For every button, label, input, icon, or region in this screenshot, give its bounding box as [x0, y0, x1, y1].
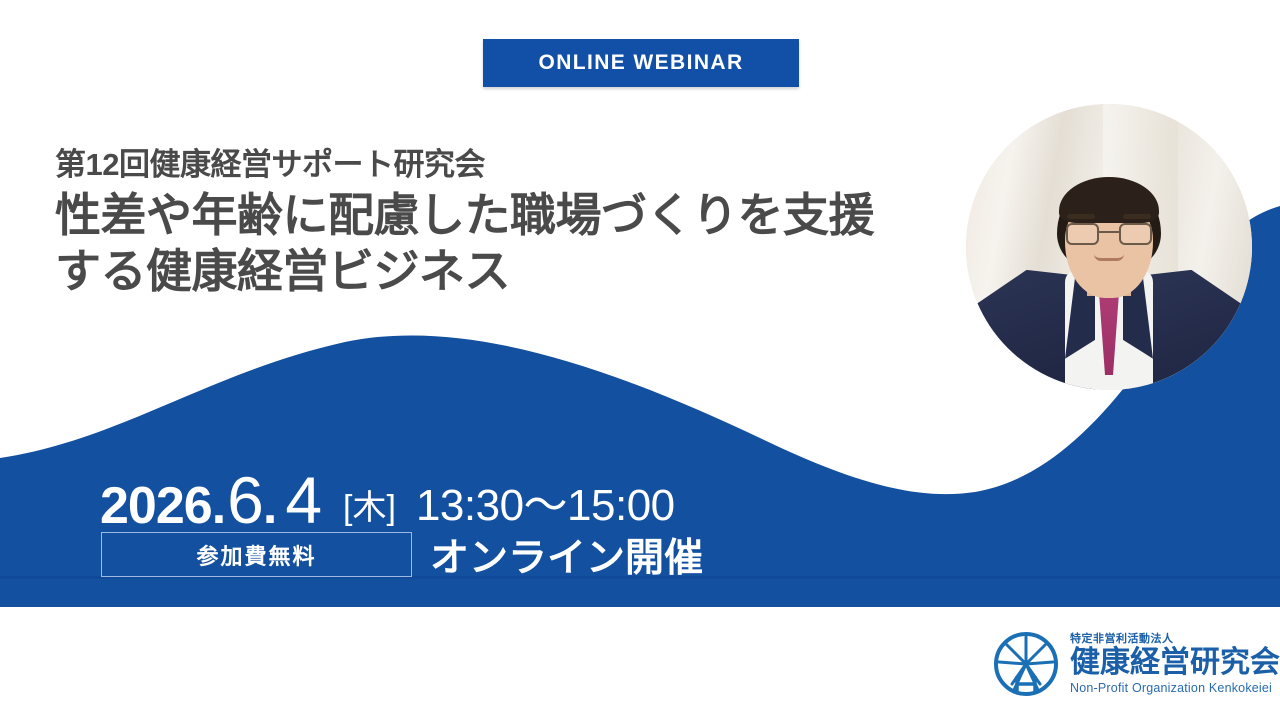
event-format-label: オンライン開催 — [430, 527, 703, 583]
date-separator-1: . — [212, 476, 226, 536]
speaker-portrait — [966, 104, 1252, 390]
webinar-poster: ONLINE WEBINAR 第12回健康経営サポート研究会 性差や年齢に配慮し… — [0, 0, 1280, 720]
kenkokeiei-emblem-icon — [992, 630, 1060, 698]
series-title: 第12回健康経営サポート研究会 — [55, 148, 1045, 183]
eyebrow-left — [1067, 214, 1095, 219]
date-separator-2: . — [263, 476, 277, 536]
organization-logo: 特定非営利活動法人 健康経営研究会 Non-Profit Organizatio… — [992, 630, 1280, 698]
organization-name-en: Non-Profit Organization Kenkokeiei — [1070, 682, 1280, 695]
event-month: 6 — [227, 462, 263, 538]
glasses-lens-left — [1066, 223, 1099, 245]
glasses-lens-right — [1119, 223, 1152, 245]
page-title-line-2: する健康経営ビジネス — [55, 243, 1045, 299]
headline-block: 第12回健康経営サポート研究会 性差や年齢に配慮した職場づくりを支援 する健康経… — [55, 148, 1045, 299]
glasses-bridge — [1099, 231, 1119, 233]
organization-logo-text: 特定非営利活動法人 健康経営研究会 Non-Profit Organizatio… — [1070, 634, 1280, 694]
organization-kind: 特定非営利活動法人 — [1070, 634, 1280, 645]
event-year: 2026 — [100, 476, 212, 536]
event-time: 13:30〜15:00 — [416, 469, 675, 533]
glasses-icon — [1066, 223, 1152, 245]
fee-badge-label: 参加費無料 — [196, 539, 316, 571]
organization-name: 健康経営研究会 — [1070, 647, 1280, 679]
fee-badge: 参加費無料 — [101, 532, 412, 577]
event-weekday: [木] — [343, 480, 396, 529]
page-title-line-1: 性差や年齢に配慮した職場づくりを支援 — [55, 187, 1045, 243]
online-webinar-banner: ONLINE WEBINAR — [483, 39, 799, 87]
webinar-banner-label: ONLINE WEBINAR — [538, 51, 743, 75]
eyebrow-right — [1123, 214, 1151, 219]
event-day: 4 — [285, 462, 321, 538]
mouth — [1094, 254, 1124, 261]
